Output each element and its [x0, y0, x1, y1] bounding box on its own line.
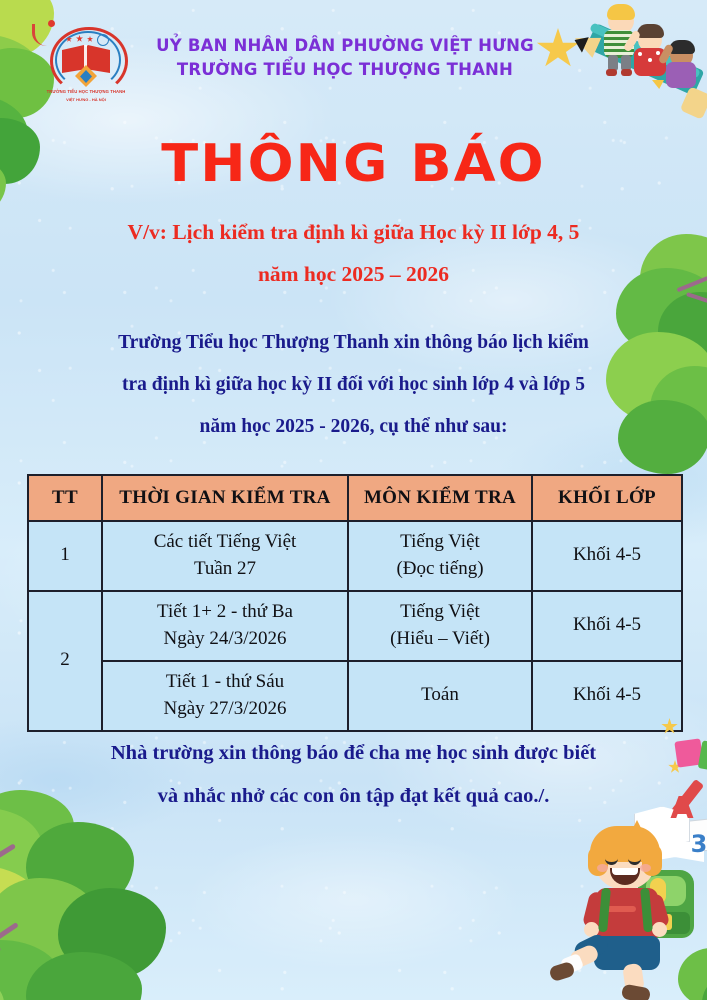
- intro-paragraph: Trường Tiểu học Thượng Thanh xin thông b…: [36, 322, 671, 448]
- column-header-grade: KHỐI LỚP: [532, 475, 682, 521]
- cell-subject-line-1: Tiếng Việt: [353, 529, 527, 556]
- org-line-2: TRƯỜNG TIỂU HỌC THƯỢNG THANH: [110, 58, 580, 82]
- green-book-icon: [698, 740, 707, 771]
- kids-on-pencil-illustration: [588, 0, 707, 120]
- cell-grade: Khối 4-5: [532, 521, 682, 591]
- column-header-subject: MÔN KIỂM TRA: [348, 475, 532, 521]
- column-header-tt: TT: [28, 475, 102, 521]
- table-header-row: TT THỜI GIAN KIỂM TRA MÔN KIỂM TRA KHỐI …: [28, 475, 682, 521]
- cell-subject-line-2: (Đọc tiếng): [353, 556, 527, 583]
- cell-grade: Khối 4-5: [532, 591, 682, 661]
- cell-time: Tiết 1+ 2 - thứ Ba Ngày 24/3/2026: [102, 591, 348, 661]
- cell-time-line-1: Tiết 1 - thứ Sáu: [107, 669, 343, 696]
- crayon-icon: [671, 779, 704, 817]
- table-row: 2 Tiết 1+ 2 - thứ Ba Ngày 24/3/2026 Tiến…: [28, 591, 682, 661]
- tree-foliage-bottom-right: [668, 940, 707, 1000]
- subtitle-line-2: năm học 2025 – 2026: [48, 254, 659, 296]
- org-line-1: UỶ BAN NHÂN DÂN PHƯỜNG VIỆT HƯNG: [110, 34, 580, 58]
- footer-line-1: Nhà trường xin thông báo để cha mẹ học s…: [36, 732, 671, 775]
- boy-with-backpack-illustration: [572, 818, 707, 1000]
- logo-caption-line1: TRƯỜNG TIỂU HỌC THƯỢNG THANH: [45, 89, 127, 94]
- page-title: THÔNG BÁO: [0, 134, 707, 194]
- intro-line-3: năm học 2025 - 2026, cụ thể như sau:: [36, 406, 671, 448]
- open-book-icon: [670, 818, 707, 855]
- subtitle-line-1: V/v: Lịch kiểm tra định kì giữa Học kỳ I…: [48, 212, 659, 254]
- logo-caption-line2: VIỆT HƯNG - HÀ NỘI: [45, 97, 127, 102]
- cell-subject: Tiếng Việt (Đọc tiếng): [348, 521, 532, 591]
- cell-time: Các tiết Tiếng Việt Tuần 27: [102, 521, 348, 591]
- cell-subject: Toán: [348, 661, 532, 731]
- exam-schedule-table: TT THỜI GIAN KIỂM TRA MÔN KIỂM TRA KHỐI …: [27, 474, 683, 732]
- cell-subject-line-2: (Hiểu – Viết): [353, 626, 527, 653]
- cell-time-line-1: Tiết 1+ 2 - thứ Ba: [107, 599, 343, 626]
- number-three-icon: 3: [688, 830, 707, 858]
- notice-subtitle: V/v: Lịch kiểm tra định kì giữa Học kỳ I…: [48, 212, 659, 296]
- cell-time-line-2: Ngày 27/3/2026: [107, 696, 343, 723]
- intro-line-1: Trường Tiểu học Thượng Thanh xin thông b…: [36, 322, 671, 364]
- cell-grade: Khối 4-5: [532, 661, 682, 731]
- cell-time-line-2: Tuần 27: [107, 556, 343, 583]
- cell-tt: 1: [28, 521, 102, 591]
- intro-line-2: tra định kì giữa học kỳ II đối với học s…: [36, 364, 671, 406]
- cell-time-line-2: Ngày 24/3/2026: [107, 626, 343, 653]
- letter-a-block-icon: A: [668, 792, 696, 826]
- cell-time: Tiết 1 - thứ Sáu Ngày 27/3/2026: [102, 661, 348, 731]
- open-book-icon: [646, 832, 704, 862]
- pink-book-icon: [674, 738, 703, 767]
- cell-subject: Tiếng Việt (Hiểu – Viết): [348, 591, 532, 661]
- organization-header: UỶ BAN NHÂN DÂN PHƯỜNG VIỆT HƯNG TRƯỜNG …: [110, 34, 580, 82]
- cell-tt: 2: [28, 591, 102, 731]
- cell-subject-line-1: Tiếng Việt: [353, 599, 527, 626]
- cell-time-line-1: Các tiết Tiếng Việt: [107, 529, 343, 556]
- notice-poster: TRƯỜNG TIỂU HỌC THƯỢNG THANH VIỆT HƯNG -…: [0, 0, 707, 1000]
- footer-paragraph: Nhà trường xin thông báo để cha mẹ học s…: [36, 732, 671, 818]
- footer-line-2: và nhắc nhở các con ôn tập đạt kết quả c…: [36, 775, 671, 818]
- column-header-time: THỜI GIAN KIỂM TRA: [102, 475, 348, 521]
- table-row: 1 Các tiết Tiếng Việt Tuần 27 Tiếng Việt…: [28, 521, 682, 591]
- table-row: Tiết 1 - thứ Sáu Ngày 27/3/2026 Toán Khố…: [28, 661, 682, 731]
- schedule-table-wrapper: TT THỜI GIAN KIỂM TRA MÔN KIỂM TRA KHỐI …: [27, 474, 681, 732]
